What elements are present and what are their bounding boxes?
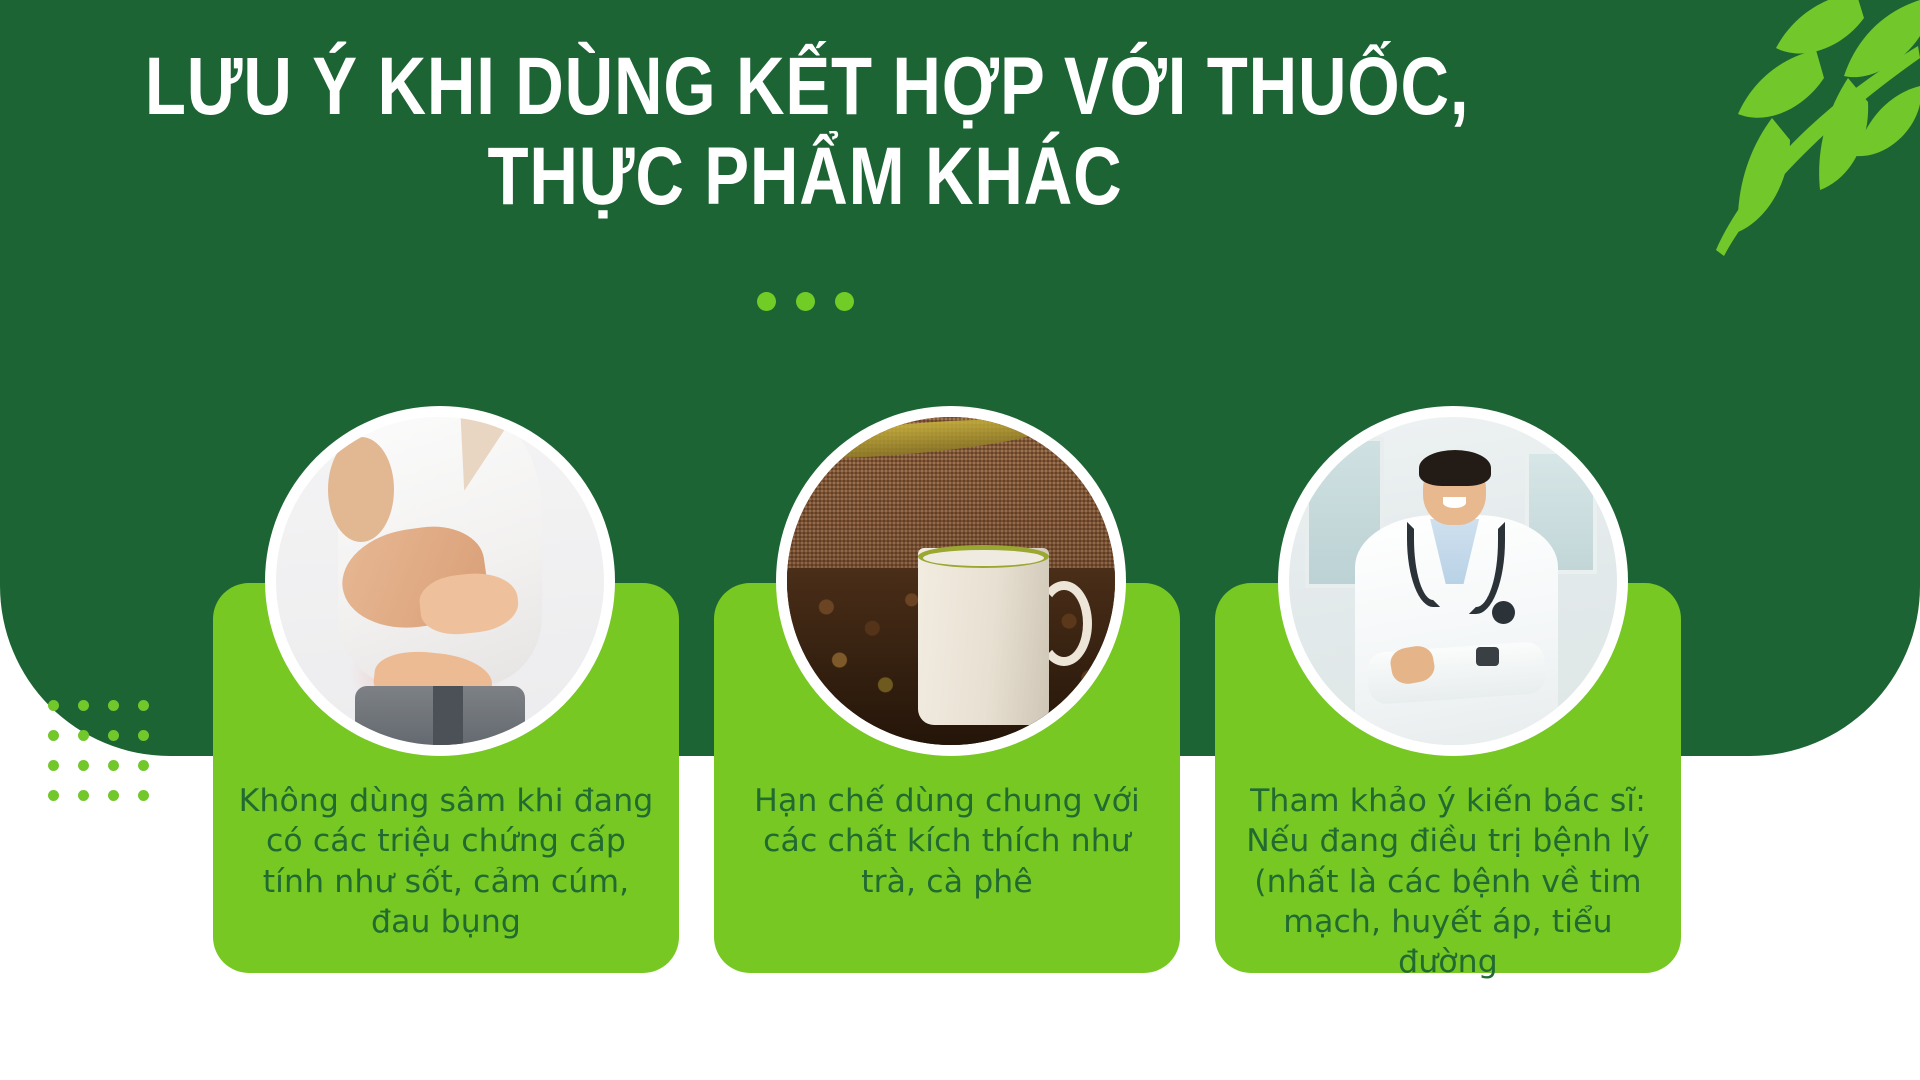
grid-dot: [48, 730, 59, 741]
grid-dot: [78, 730, 89, 741]
grid-dot: [108, 700, 119, 711]
title-divider-dots: [0, 292, 1610, 311]
divider-dot-3: [835, 292, 854, 311]
grid-dot: [78, 760, 89, 771]
card-tham-khao-bac-si[interactable]: Tham khảo ý kiến bác sĩ: Nếu đang điều t…: [1215, 583, 1681, 973]
grid-dot: [138, 790, 149, 801]
decorative-dot-grid: [48, 700, 168, 820]
divider-dot-2: [796, 292, 815, 311]
title-line-2: THỰC PHẨM KHÁC: [145, 136, 1465, 218]
grid-dot: [78, 790, 89, 801]
grid-dot: [48, 760, 59, 771]
card-text: Tham khảo ý kiến bác sĩ: Nếu đang điều t…: [1239, 781, 1657, 983]
page-title: LƯU Ý KHI DÙNG KẾT HỢP VỚI THUỐC, THỰC P…: [0, 46, 1610, 218]
grid-dot: [108, 730, 119, 741]
card-han-che-chat-kich-thich[interactable]: Hạn chế dùng chung với các chất kích thí…: [714, 583, 1180, 973]
card-khong-dung-sam[interactable]: Không dùng sâm khi đang có các triệu chứ…: [213, 583, 679, 973]
divider-dot-1: [757, 292, 776, 311]
card-text: Không dùng sâm khi đang có các triệu chứ…: [237, 781, 655, 942]
grid-dot: [78, 700, 89, 711]
grid-dot: [138, 700, 149, 711]
grid-dot: [108, 790, 119, 801]
title-line-1: LƯU Ý KHI DÙNG KẾT HỢP VỚI THUỐC,: [145, 46, 1465, 128]
grid-dot: [108, 760, 119, 771]
grid-dot: [48, 700, 59, 711]
grid-dot: [48, 790, 59, 801]
card-text: Hạn chế dùng chung với các chất kích thí…: [738, 781, 1156, 902]
grid-dot: [138, 760, 149, 771]
grid-dot: [138, 730, 149, 741]
